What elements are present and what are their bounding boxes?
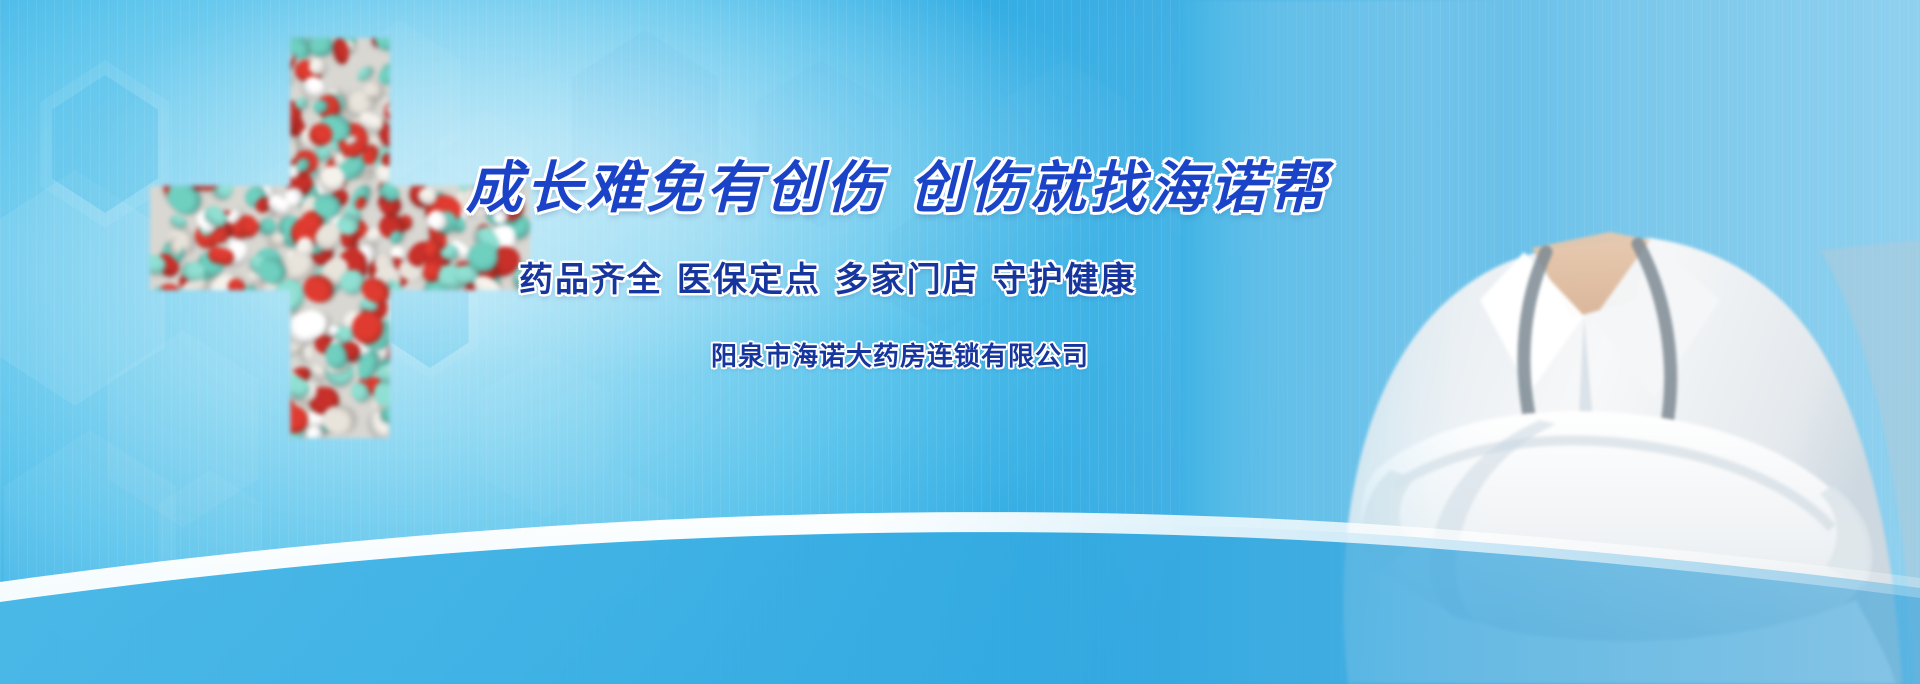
banner-headline: 成长难免有创伤 创伤就找海诺帮 <box>466 143 1330 224</box>
pharmacist-photo <box>1180 0 1920 684</box>
pill-cross-graphic <box>150 38 530 438</box>
banner-company-name: 阳泉市海诺大药房连锁有限公司 <box>711 336 1089 373</box>
banner-subheadline: 药品齐全 医保定点 多家门店 守护健康 <box>519 252 1137 301</box>
pharmacy-promo-banner: 成长难免有创伤 创伤就找海诺帮 药品齐全 医保定点 多家门店 守护健康 阳泉市海… <box>0 0 1920 684</box>
